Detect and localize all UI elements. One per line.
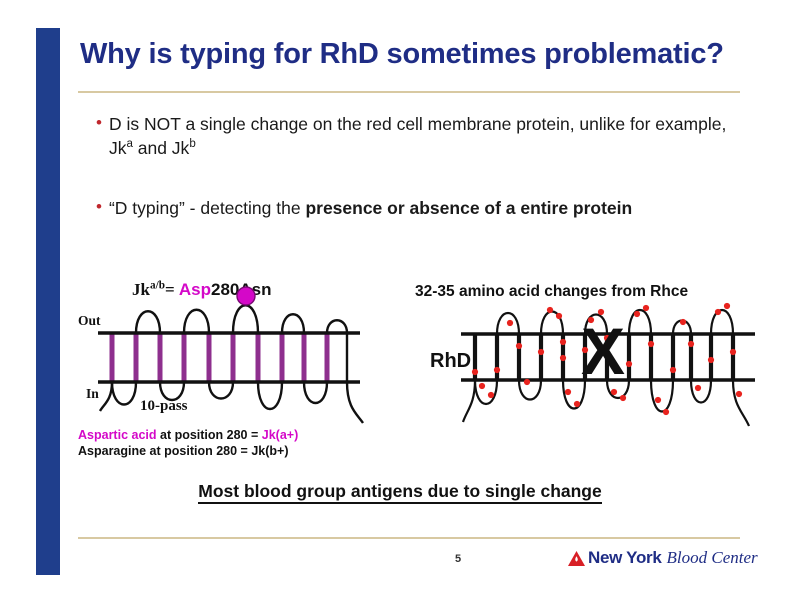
legend-line-2: Asparagine at position 280 = Jk(b+)	[78, 444, 288, 458]
logo-secondary-text: Blood Center	[667, 548, 758, 568]
legend-line-1-mid: at position 280 =	[157, 428, 262, 442]
jk-cytoplasmic-loops	[112, 382, 327, 409]
bullet-text-2: “D typing” - detecting the presence or a…	[109, 196, 632, 220]
bullet-2-bold: presence or absence of a entire protein	[305, 198, 632, 218]
triangle-logo-icon	[568, 551, 585, 566]
footer-divider	[78, 537, 740, 539]
logo-primary-text: New York	[588, 548, 662, 568]
bullet-text-1: D is NOT a single change on the red cell…	[109, 112, 736, 160]
bullet-dot-icon: •	[96, 112, 102, 134]
rhd-membrane-diagram: X	[455, 300, 775, 430]
summary-text: Most blood group antigens due to single …	[198, 481, 601, 504]
legend-line-1: Aspartic acid at position 280 = Jk(a+)	[78, 428, 298, 442]
jk-membrane-diagram	[70, 278, 390, 428]
bullet-1-pre: D is NOT a single change on the red cell…	[109, 114, 726, 158]
slide-canvas: Why is typing for RhD sometimes problema…	[0, 0, 800, 600]
bullet-1-mid: and Jk	[133, 138, 189, 158]
bullet-item-2: • “D typing” - detecting the presence or…	[96, 196, 736, 220]
bullet-item-1: • D is NOT a single change on the red ce…	[96, 112, 736, 160]
page-title: Why is typing for RhD sometimes problema…	[80, 38, 770, 71]
jk-transmembrane-segments	[112, 333, 327, 382]
bullet-2-pre: “D typing” - detecting the	[109, 198, 305, 218]
page-number: 5	[455, 553, 461, 565]
jk-polymorphism-marker-icon	[237, 287, 255, 305]
title-divider	[78, 91, 740, 93]
bullet-1-sup-b: b	[189, 138, 195, 150]
organization-logo: New York Blood Center	[568, 548, 758, 568]
summary-statement: Most blood group antigens due to single …	[0, 481, 800, 502]
rhd-cross-out-glyph: X	[581, 314, 625, 388]
legend-aspartic-acid: Aspartic acid	[78, 428, 157, 442]
bullet-dot-icon: •	[96, 196, 102, 218]
rhd-diagram-heading: 32-35 amino acid changes from Rhce	[415, 283, 688, 301]
jk-extracellular-loops	[136, 305, 347, 333]
legend-jk-a-positive: Jk(a+)	[262, 428, 298, 442]
